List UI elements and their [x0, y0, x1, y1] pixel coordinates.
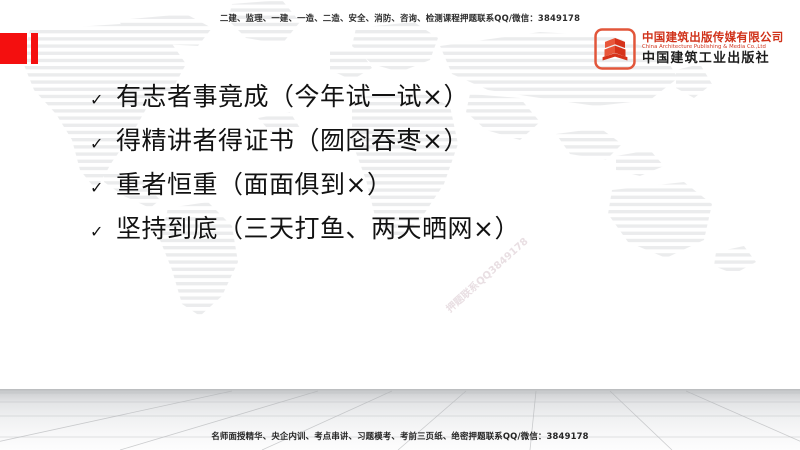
accent-block-red [0, 33, 27, 64]
bullet-list: ✓ 有志者事竟成（今年试一试×） ✓ 得精讲者得证书（囫囵吞枣×） ✓ 重者恒重… [90, 84, 730, 260]
accent-bar-red [31, 33, 38, 64]
list-item: ✓ 得精讲者得证书（囫囵吞枣×） [90, 128, 730, 172]
open-book-logo-icon [594, 28, 636, 70]
list-item-label: 得精讲者得证书（囫囵吞枣×） [116, 128, 469, 153]
list-item-label: 重者恒重（面面俱到×） [116, 172, 392, 197]
check-icon: ✓ [90, 224, 116, 240]
top-banner-text: 二建、监理、一建、一造、二造、安全、消防、咨询、检测课程押题联系QQ/微信：38… [0, 12, 800, 24]
list-item: ✓ 有志者事竟成（今年试一试×） [90, 84, 730, 128]
check-icon: ✓ [90, 180, 116, 196]
slide-upper-area: 二建、监理、一建、一造、二造、安全、消防、咨询、检测课程押题联系QQ/微信：38… [0, 0, 800, 389]
list-item: ✓ 重者恒重（面面俱到×） [90, 172, 730, 216]
publisher-logo: 中国建筑出版传媒有限公司 China Architecture Publishi… [594, 28, 784, 70]
logo-imprint-cn: 中国建筑工业出版社 [642, 51, 784, 67]
logo-company-cn: 中国建筑出版传媒有限公司 [642, 31, 784, 44]
list-item-label: 坚持到底（三天打鱼、两天晒网×） [116, 216, 520, 241]
check-icon: ✓ [90, 92, 116, 108]
list-item-label: 有志者事竟成（今年试一试×） [116, 84, 469, 109]
bottom-banner-text: 名师面授精华、央企内训、考点串讲、习题模考、考前三页纸、绝密押题联系QQ/微信：… [0, 430, 800, 442]
logo-text-block: 中国建筑出版传媒有限公司 China Architecture Publishi… [642, 31, 784, 67]
presentation-slide: 二建、监理、一建、一造、二造、安全、消防、咨询、检测课程押题联系QQ/微信：38… [0, 0, 800, 450]
check-icon: ✓ [90, 136, 116, 152]
list-item: ✓ 坚持到底（三天打鱼、两天晒网×） [90, 216, 730, 260]
